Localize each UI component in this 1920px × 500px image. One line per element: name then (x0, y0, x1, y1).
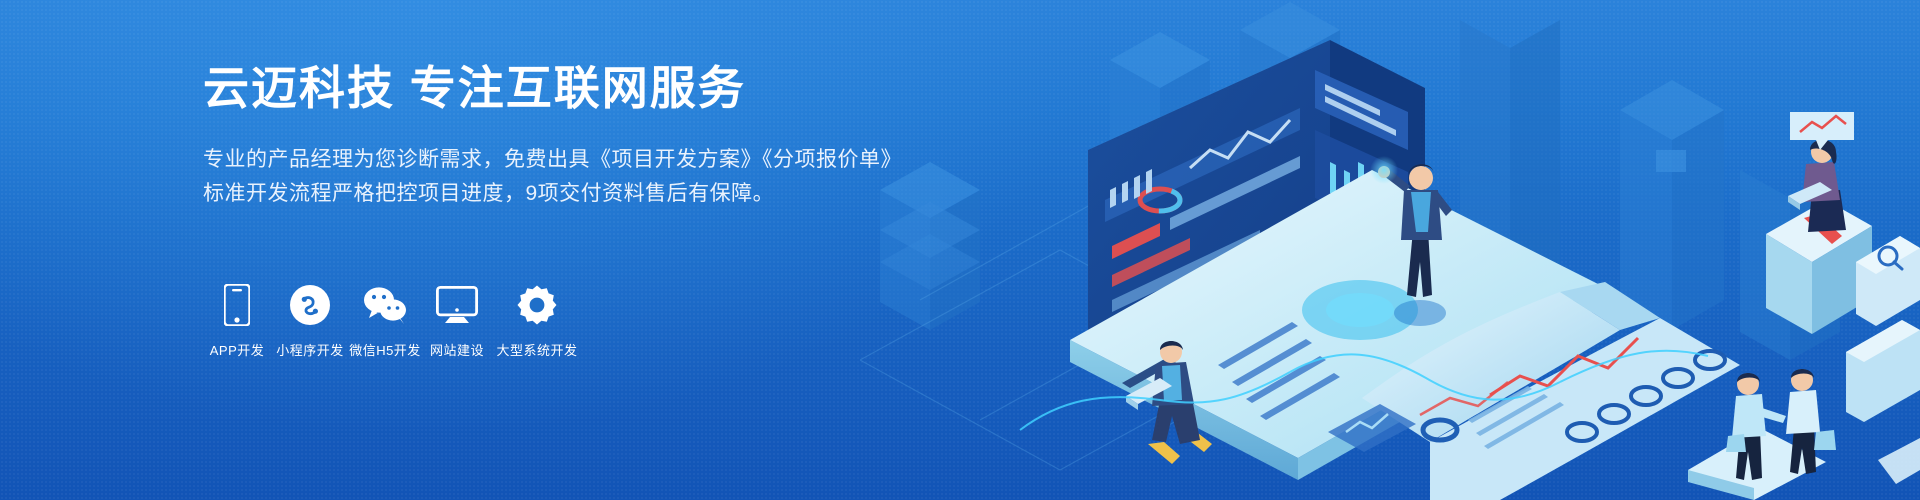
service-label: 网站建设 (430, 340, 484, 359)
service-label: 小程序开发 (276, 340, 344, 359)
page-title: 云迈科技 专注互联网服务 (203, 62, 903, 115)
hero-banner: 云迈科技 专注互联网服务 专业的产品经理为您诊断需求，免费出具《项目开发方案》《… (0, 0, 1920, 500)
mobile-phone-icon (224, 283, 250, 327)
mini-program-icon (290, 283, 330, 327)
service-item-mini-program[interactable]: 小程序开发 (273, 283, 347, 359)
far-right-standing-person (1878, 438, 1920, 484)
service-label: 大型系统开发 (496, 340, 577, 359)
service-item-app[interactable]: APP开发 (202, 283, 272, 359)
service-label: APP开发 (210, 340, 265, 359)
two-people-shaking-hands (1688, 369, 1836, 500)
wechat-icon (362, 283, 408, 327)
subtitle-line-2: 标准开发流程严格把控项目进度，9项交付资料售后有保障。 (203, 177, 903, 211)
gear-icon (517, 283, 557, 327)
hero-copy: 云迈科技 专注互联网服务 专业的产品经理为您诊断需求，免费出具《项目开发方案》《… (203, 62, 903, 211)
service-item-large-system[interactable]: 大型系统开发 (492, 283, 582, 359)
service-item-wechat-h5[interactable]: 微信H5开发 (348, 283, 422, 359)
lower-pedestal-cubes (1846, 320, 1920, 422)
service-list: APP开发 小程序开发 (202, 283, 582, 359)
service-item-website[interactable]: 网站建设 (423, 283, 491, 359)
subtitle-line-1: 专业的产品经理为您诊断需求，免费出具《项目开发方案》《分项报价单》 (203, 143, 903, 177)
hero-illustration (860, 0, 1920, 500)
monitor-icon (436, 283, 478, 327)
service-label: 微信H5开发 (349, 340, 421, 359)
hero-subtitle: 专业的产品经理为您诊断需求，免费出具《项目开发方案》《分项报价单》 标准开发流程… (203, 143, 903, 211)
